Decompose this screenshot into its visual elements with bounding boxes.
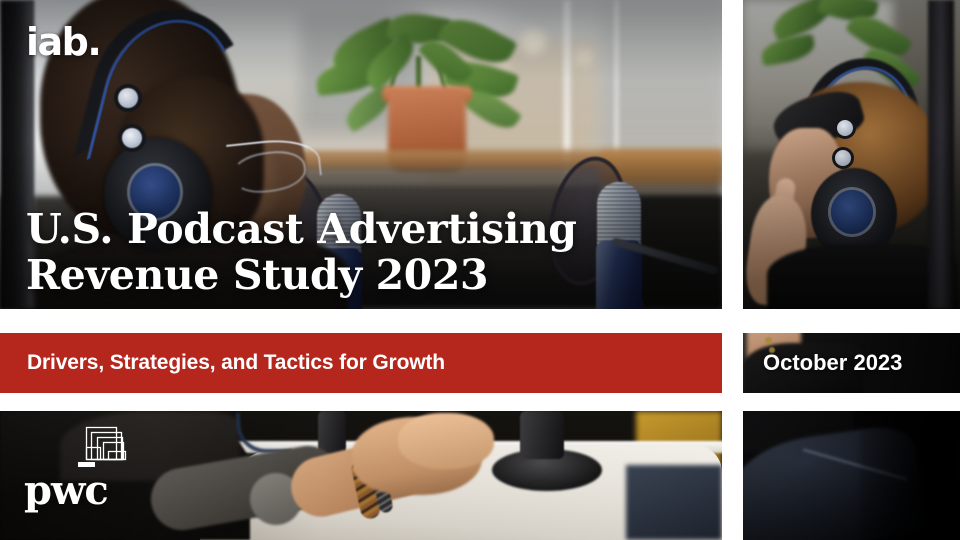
report-cover: iab. U.S. Podcast Advertising Revenue St…	[0, 0, 960, 540]
bottom-left-photo-panel: pwc	[0, 411, 722, 540]
hero-photo-panel: iab. U.S. Podcast Advertising Revenue St…	[0, 0, 722, 309]
pwc-mark-icon	[78, 425, 146, 471]
pwc-logo: pwc	[66, 425, 186, 529]
iab-logo-icon: iab.	[26, 23, 100, 61]
top-right-photo-panel	[743, 0, 960, 309]
bottom-right-photo-panel	[743, 411, 960, 540]
page-title-line-1: U.S. Podcast Advertising	[26, 206, 577, 253]
subtitle-banner: Drivers, Strategies, and Tactics for Gro…	[0, 333, 722, 393]
date-panel: October 2023	[743, 333, 960, 393]
page-title: U.S. Podcast Advertising Revenue Study 2…	[26, 206, 577, 299]
page-title-line-2: Revenue Study 2023	[26, 252, 577, 299]
pwc-wordmark: pwc	[24, 471, 108, 511]
publication-date: October 2023	[763, 350, 902, 376]
subtitle-text: Drivers, Strategies, and Tactics for Gro…	[27, 351, 445, 375]
